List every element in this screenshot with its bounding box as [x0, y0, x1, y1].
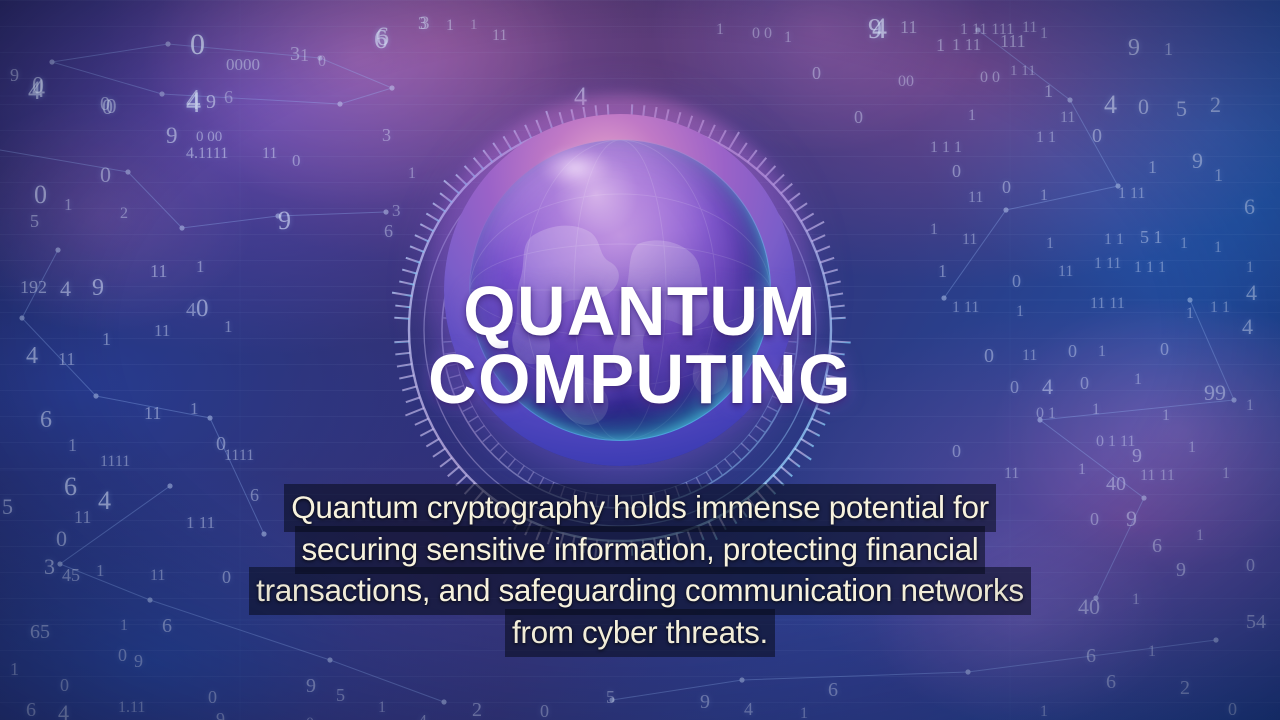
dial-tick [716, 466, 722, 475]
background-digit: 9 [134, 652, 143, 670]
background-digit: 1 [784, 30, 792, 46]
circuit-node [179, 225, 184, 230]
dial-tick [450, 282, 461, 285]
background-digit: 6 [384, 222, 393, 240]
background-digit: 1 [1164, 40, 1173, 58]
dial-tick [583, 107, 585, 122]
background-digit: 1 [1180, 236, 1188, 252]
dial-tick [549, 482, 553, 492]
dial-tick [503, 511, 511, 524]
background-digit: 5 [336, 686, 345, 704]
background-digit: 9 [278, 208, 291, 234]
caption-line: Quantum cryptography holds immense poten… [0, 487, 1280, 529]
background-digit: 0 [854, 108, 863, 126]
circuit-node [327, 657, 332, 662]
circuit-node [165, 41, 170, 46]
background-digit: 0 [812, 64, 821, 82]
dial-tick [709, 125, 715, 139]
title-line-2: COMPUTING [26, 346, 1255, 414]
background-digit: 1 [446, 18, 454, 34]
background-digit: 9 [868, 16, 882, 44]
background-digit: 11 [154, 322, 170, 339]
dial-tick [596, 155, 597, 166]
dial-tick [749, 435, 758, 442]
circuit-node [1231, 397, 1236, 402]
background-scanlines [0, 0, 1280, 720]
background-digit: 1 [102, 330, 111, 348]
background-digit: 1 [1040, 704, 1048, 720]
background-digit: 111 [1000, 32, 1026, 50]
background-digit: 2 [1180, 678, 1190, 698]
dial-tick [781, 467, 792, 477]
background-digit: 6 [162, 616, 172, 636]
dial-tick [776, 271, 786, 275]
background-digit: 1 [1132, 592, 1140, 608]
circuit-node [1141, 495, 1146, 500]
dial-tick [654, 493, 656, 504]
dial-tick [773, 175, 784, 185]
dial-tick [491, 443, 499, 451]
background-digit: 5 1 [1140, 228, 1163, 246]
background-digit: 40 [1106, 474, 1126, 494]
background-digit: 1 [716, 22, 724, 38]
circuit-node [167, 483, 172, 488]
background-digit: 0 00 [196, 130, 222, 145]
background-digit: 1 [1214, 240, 1222, 256]
dial-tick [465, 483, 475, 494]
background-digit: 9 [1192, 150, 1203, 172]
dial-tick [686, 168, 690, 178]
caption-line: transactions, and safeguarding communica… [0, 570, 1280, 612]
background-digit: 0 [208, 688, 217, 706]
background-digit: 0 [952, 442, 961, 460]
background-digit: 0 [102, 96, 113, 118]
background-digit: 6 [1152, 536, 1162, 556]
dial-tick [831, 341, 851, 342]
circuit-node [93, 393, 98, 398]
dial-tick [433, 203, 445, 211]
dial-tick [440, 193, 452, 202]
background-digit: 3 [418, 14, 427, 32]
dial-tick [706, 472, 712, 481]
dial-tick [741, 209, 749, 217]
circuit-node [739, 677, 744, 682]
dial-tick [696, 173, 701, 183]
dial-tick [725, 459, 732, 468]
background-digit: 6 [64, 474, 77, 500]
caption-line: from cyber threats. [0, 612, 1280, 654]
background-digit: 1 [1148, 158, 1157, 176]
background-digit: 1 [1162, 408, 1170, 424]
background-digit: 1 [1092, 402, 1100, 418]
dial-tick [795, 203, 807, 211]
dial-tick [474, 491, 484, 502]
background-digit: 9 [216, 710, 225, 720]
background-digit: 0 [100, 164, 111, 186]
globe-cyan-rim [469, 139, 771, 441]
background-digit: 0 [1092, 126, 1102, 146]
background-digit: 0 0 [752, 26, 772, 42]
circuit-node [57, 561, 62, 566]
dial-tick [493, 505, 501, 517]
background-digit: 4 [418, 712, 427, 720]
background-digit: 1 [300, 46, 309, 64]
background-digit: 0 [952, 162, 961, 180]
background-digit: 1 [1040, 188, 1048, 204]
dial-tick [654, 157, 656, 168]
binary-digit-field: 04649310904000004090 004.111111090510219… [0, 0, 1280, 720]
background-digit: 4 [872, 14, 887, 44]
background-digit: 0 [118, 646, 127, 664]
dial-tick [676, 533, 680, 547]
dial-tick [395, 306, 410, 308]
background-digit: 54 [1246, 612, 1266, 632]
background-digit: 4 [98, 488, 111, 514]
background-digit: 0 [1138, 96, 1149, 118]
background-digit: 0 [60, 676, 69, 694]
background-digit: 0 [56, 528, 67, 550]
dial-tick [596, 105, 598, 120]
background-digit: 1 [1134, 372, 1142, 388]
dial-tick [729, 132, 739, 149]
background-digit: 11 [58, 350, 75, 368]
background-digit: 11 [492, 28, 507, 44]
background-digit: 0 [1010, 378, 1019, 396]
circuit-node [1067, 97, 1072, 102]
dial-tick [584, 157, 586, 168]
dial-tick [665, 160, 668, 171]
subtitle-caption: Quantum cryptography holds immense poten… [0, 487, 1280, 653]
background-digit: 6 [224, 88, 233, 106]
dial-tick [784, 306, 795, 307]
background-digit: 0 [1080, 374, 1089, 392]
caption-line-text: from cyber threats. [505, 609, 775, 657]
circuit-node [975, 27, 980, 32]
background-digit: 0 [306, 716, 314, 720]
background-digit: 0 [1002, 178, 1011, 196]
background-digit: 3 [290, 44, 300, 64]
circuit-node [1115, 183, 1120, 188]
background-digit: 1 [64, 196, 73, 213]
dial-tick [608, 496, 609, 507]
background-digit: 1 [190, 400, 199, 417]
dial-tick [420, 224, 433, 231]
background-digit: 1 [936, 36, 945, 54]
background-digit: 4 [744, 700, 753, 718]
dial-tick [410, 246, 424, 252]
dial-tick [561, 486, 565, 496]
background-digit: 0 [600, 122, 609, 140]
dial-tick [480, 498, 492, 514]
dial-tick [528, 472, 534, 481]
background-digit: 4 [1042, 376, 1053, 398]
background-digit: 9 [700, 692, 710, 712]
background-digit: 1111 [224, 448, 254, 464]
background-digit: 6 [250, 486, 259, 504]
background-digit: 1 [1046, 236, 1054, 252]
circuit-node [317, 55, 322, 60]
dial-tick [643, 540, 645, 555]
circuit-node [609, 697, 614, 702]
dial-tick [571, 536, 574, 551]
circuit-node [275, 213, 280, 218]
background-digit: 2 [120, 206, 128, 222]
background-digit: 6 [1086, 646, 1096, 666]
background-digit: 11 [1060, 110, 1075, 126]
background-digit: 9 [1128, 36, 1140, 60]
dial-tick [823, 386, 837, 390]
dial-tick [402, 386, 416, 390]
background-digit: 99 [1204, 382, 1226, 404]
background-digit: 11 [1022, 348, 1037, 364]
dial-tick [596, 494, 597, 505]
dial-tick [772, 396, 782, 400]
background-digit: 1 11 [1118, 186, 1145, 202]
sphere-outer-shell [444, 114, 796, 466]
background-digit: 4 [574, 84, 587, 110]
background-digit: 0 1 [1036, 406, 1056, 422]
dial-tick [757, 158, 767, 169]
dial-tick [415, 419, 429, 425]
dial-tick [493, 143, 501, 155]
background-digit: 4 [58, 702, 69, 720]
background-digit: 1 [968, 108, 976, 124]
background-digit: 192 [20, 278, 47, 296]
dial-tick [447, 364, 458, 366]
background-digit: 6 [374, 26, 388, 53]
dial-tick [643, 155, 644, 166]
dial-tick [698, 120, 704, 134]
dial-tick [536, 526, 542, 540]
dial-tick [765, 166, 775, 177]
background-digit: 11 11 [1140, 468, 1175, 484]
background-digit: 6 [26, 700, 36, 720]
dial-tick [405, 408, 424, 415]
dial-tick [826, 281, 841, 284]
dial-tick [525, 125, 531, 139]
background-gradient [0, 0, 1280, 720]
background-digit: 1 [1016, 304, 1024, 320]
dial-tick [445, 353, 456, 354]
circuit-node [1037, 417, 1042, 422]
background-digit: 5 [1176, 98, 1187, 120]
dial-tick [514, 130, 521, 143]
dial-tick [453, 271, 463, 275]
background-digit: 11 [1004, 466, 1019, 482]
background-digit: 1 [196, 258, 205, 275]
background-digit: 4 [186, 300, 196, 320]
dial-tick [465, 166, 475, 177]
background-warm-plasma [0, 0, 1280, 720]
background-digit: 1 1 [1036, 130, 1056, 146]
background-digit: 9 [1132, 446, 1142, 466]
dial-tick [687, 116, 692, 130]
dial-tick [762, 416, 771, 422]
dial-tick [823, 270, 837, 274]
dial-tick [748, 498, 757, 510]
dial-tick [572, 490, 575, 501]
background-digit: 3 [44, 556, 55, 578]
background-digit: 4 [1242, 316, 1253, 338]
dial-tick [741, 443, 749, 451]
background-digit: 2 [472, 700, 482, 720]
dial-tick [676, 112, 680, 126]
dial-tick [608, 104, 609, 119]
dial-tick [450, 375, 461, 378]
background-digit: 0 1 11 [1096, 434, 1135, 450]
background-digit: 0 [222, 568, 231, 586]
circuit-node [49, 59, 54, 64]
dial-tick [806, 429, 819, 436]
background-digit: 1 [800, 706, 808, 720]
caption-line: securing sensitive information, protecti… [0, 529, 1280, 571]
dial-tick [781, 184, 792, 194]
dial-tick [828, 364, 843, 366]
background-digit: 0 [32, 74, 44, 98]
dial-tick [560, 533, 564, 547]
background-digit: 9 [10, 66, 19, 84]
dial-tick [706, 179, 712, 188]
tick-ring-dial-icon [370, 80, 870, 580]
dial-tick [801, 213, 814, 221]
background-digit: 0 [100, 94, 110, 114]
background-digit: 1 [1098, 344, 1106, 360]
background-digit: 40 [1078, 596, 1100, 618]
dial-tick [458, 396, 468, 400]
background-digit: 0 [318, 54, 326, 70]
dial-tick [831, 318, 846, 319]
dial-tick [549, 168, 553, 178]
dial-tick [716, 185, 722, 194]
background-digit: 1 1 1 [1134, 260, 1166, 276]
background-digit: 11 [1058, 264, 1073, 280]
background-digit: 0 [1012, 272, 1021, 290]
circuit-node [441, 699, 446, 704]
dial-tick [475, 228, 484, 234]
circuit-node [125, 169, 130, 174]
dial-tick [518, 185, 524, 194]
dial-tick [725, 193, 732, 202]
circuit-node [159, 91, 164, 96]
dial-tick [483, 150, 492, 162]
background-digit: 1 [1222, 466, 1230, 482]
dial-tick [392, 293, 412, 296]
circuit-node [1213, 637, 1218, 642]
dial-tick [828, 293, 843, 295]
dial-tick [811, 235, 825, 241]
dial-tick [748, 150, 757, 162]
background-digit: 0000 [226, 56, 260, 73]
dial-tick [399, 281, 414, 284]
background-digit: 1 1 [1104, 232, 1124, 248]
dial-tick [686, 482, 690, 492]
dial-tick [536, 120, 542, 134]
background-digit: 6 [376, 24, 389, 50]
dial-tick [786, 341, 797, 342]
background-digit: 0 [1228, 700, 1237, 718]
dial-tick [631, 104, 632, 119]
dial-tick [738, 505, 746, 517]
background-digit: 11 [144, 404, 161, 422]
dial-tick [469, 416, 478, 422]
dial-tick [514, 516, 521, 529]
dial-tick [561, 163, 565, 173]
background-digit: 1 [1148, 644, 1156, 660]
background-digit: 4 [26, 344, 38, 368]
dial-tick [719, 130, 726, 143]
dial-tick [806, 222, 824, 231]
circuit-node [337, 101, 342, 106]
dial-tick [483, 435, 492, 442]
background-digit: 1 [10, 660, 19, 678]
caption-line-text: securing sensitive information, protecti… [295, 526, 986, 574]
dial-tick [654, 107, 656, 122]
dial-tick [643, 494, 644, 505]
background-digit: 1 [1196, 528, 1204, 544]
dial-tick [463, 406, 473, 411]
background-digit: 1 11 [952, 300, 979, 316]
background-digit: 0 [292, 152, 301, 169]
vignette-overlay [0, 0, 1280, 720]
background-digit: 5 [2, 496, 13, 518]
circuit-network-overlay [0, 0, 1280, 720]
dial-tick [676, 486, 680, 496]
dial-tick [783, 364, 794, 366]
dial-tick [426, 213, 439, 221]
globe-sphere [470, 140, 770, 440]
dial-tick [469, 238, 478, 244]
background-digit: 0 0 [980, 70, 1000, 86]
dial-tick [665, 490, 668, 501]
background-digit: 4 [1246, 282, 1257, 304]
dial-tick [762, 238, 771, 244]
background-digit: 45 [62, 566, 80, 584]
dial-tick [733, 451, 741, 459]
dial-tick [443, 318, 454, 319]
dial-tick [687, 530, 692, 544]
dial-tick [738, 143, 746, 155]
dial-tick [572, 160, 575, 171]
circuit-node [1187, 297, 1192, 302]
background-digit: 2 [1210, 94, 1221, 116]
dial-tick [508, 459, 515, 468]
dial-tick [749, 218, 758, 225]
background-digit: 11 [74, 508, 91, 526]
background-digit: 9 [306, 676, 316, 696]
background-digit: 0 [1246, 556, 1255, 574]
circuit-node [383, 209, 388, 214]
background-digit: 1 [1186, 306, 1194, 322]
background-digit: 1 [1246, 398, 1254, 414]
background-digit: 5 [606, 688, 615, 706]
dial-tick [784, 353, 795, 354]
background-digit: 1 [1214, 166, 1223, 184]
dial-tick [676, 163, 680, 173]
dial-tick [733, 201, 741, 209]
background-digit: 11 [1022, 20, 1037, 36]
dial-tick [756, 426, 765, 432]
background-digit: 6 [40, 408, 52, 432]
dial-tick [399, 375, 414, 378]
dial-tick [696, 477, 701, 487]
background-digit: 1 [224, 318, 233, 335]
dial-tick [783, 294, 794, 296]
dial-tick [830, 306, 845, 308]
background-digit: 9 [166, 124, 178, 147]
dial-tick [826, 375, 841, 378]
background-digit: 3 [420, 14, 430, 33]
dial-tick [795, 448, 812, 459]
